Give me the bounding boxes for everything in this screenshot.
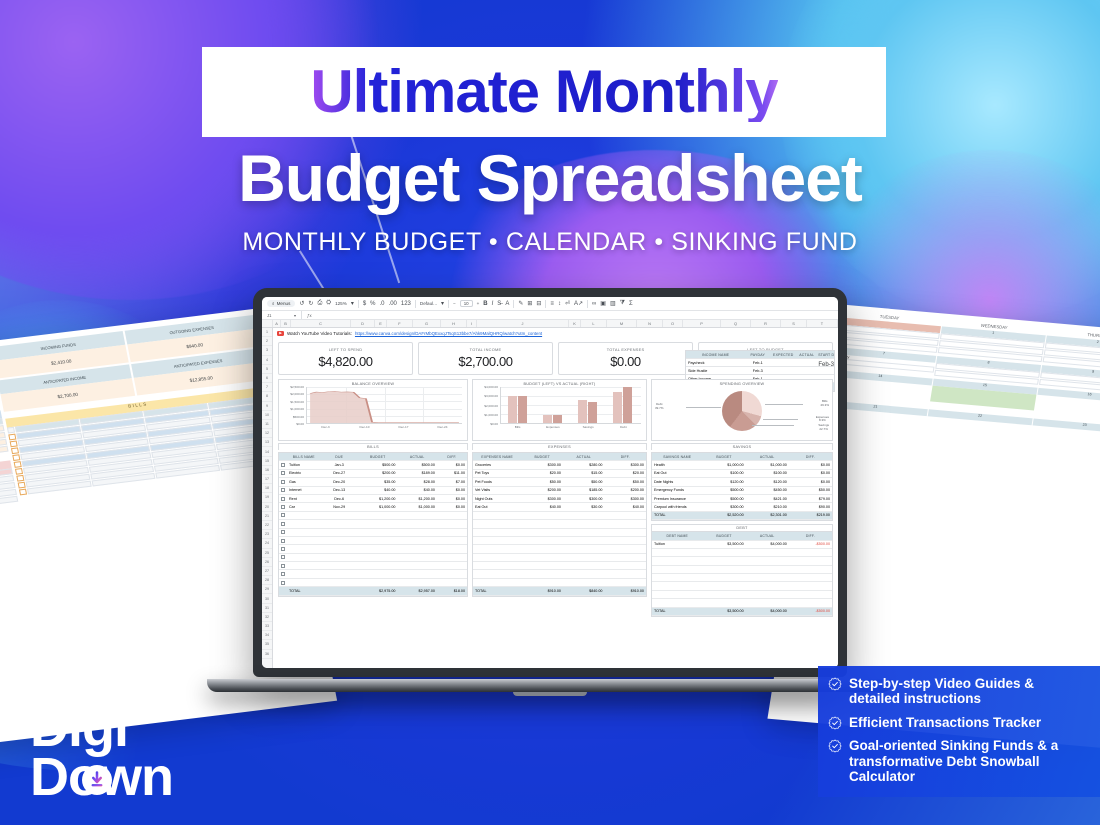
savings-total-budget: $2,520.00	[702, 513, 745, 517]
youtube-icon: ▶	[277, 331, 284, 336]
page-title-line1: Ultimate Monthly	[310, 62, 777, 122]
row-number-35[interactable]: 35	[262, 640, 272, 649]
laptop-screen: ⌕ Menus ↺ ↻ ⎙ ⛭ 125% ▾ $ % .0 .00 123	[262, 297, 838, 668]
bvsa-x-labels: Bills Expenses Savings Debt	[500, 425, 641, 432]
bills-row-internet[interactable]: Internet Dec-13 $40.00 $40.00 $0.00	[279, 487, 467, 495]
expenses-row-eat-out[interactable]: Eat Out $40.00 $30.00 $40.00	[473, 503, 646, 511]
savings-header-diff: DIFF.	[789, 455, 832, 459]
bills-checkbox-9[interactable]	[279, 539, 287, 543]
bills-diff-4: $0.00	[437, 497, 467, 501]
column-header-T[interactable]: T	[807, 320, 838, 327]
bills-empty-row-4[interactable]	[279, 537, 467, 545]
balance-ytick-4: $2,000.00	[290, 392, 304, 396]
column-header-B[interactable]: B	[281, 320, 291, 327]
debt-empty-row-4[interactable]	[652, 574, 832, 582]
expenses-row-groceries[interactable]: Groceries $300.00 $280.00 $300.00	[473, 461, 646, 469]
feature-item-0: Step-by-step Video Guides & detailed ins…	[828, 676, 1088, 707]
name-box[interactable]: J1	[267, 313, 289, 318]
expenses-actual-1: $15.00	[563, 471, 605, 475]
savings-row-eat-out[interactable]: Eat Out $100.00 $100.00 $0.00	[652, 470, 832, 478]
expenses-empty-row-5[interactable]	[473, 545, 646, 553]
bills-name-2: Gas	[287, 480, 320, 484]
savings-row-premium-insurance[interactable]: Premium Insurance $500.00 $421.00 $79.00	[652, 495, 832, 503]
income-row-side-hustle[interactable]: Side Hustle Feb-3	[686, 367, 834, 375]
bills-empty-row-9[interactable]	[279, 579, 467, 587]
text-color-icon[interactable]: A	[505, 301, 509, 307]
income-header-actual: ACTUAL	[796, 353, 817, 357]
bills-total-budget: $2,975.00	[358, 589, 397, 593]
column-header-F[interactable]: F	[387, 320, 413, 327]
font-size-input[interactable]: 10	[460, 300, 473, 307]
check-badge-icon	[828, 716, 842, 730]
debt-header-diff: DIFF.	[789, 534, 832, 538]
bills-checkbox-7[interactable]	[279, 522, 287, 526]
savings-name-2: Date Nights	[652, 480, 702, 484]
bills-actual-0: $500.00	[397, 463, 436, 467]
fill-color-icon[interactable]: ✎	[518, 300, 523, 307]
expenses-table: EXPENSES NAME BUDGET ACTUAL DIFF. Grocer…	[472, 452, 647, 597]
select-all-corner[interactable]	[262, 320, 273, 327]
chart-spending-overview[interactable]: SPENDING OVERVIEW Bills 29.3%	[651, 379, 833, 441]
percent-icon[interactable]: %	[370, 301, 375, 307]
debt-total-label: TOTAL	[652, 609, 702, 613]
insert-chart-icon[interactable]: ▥	[610, 300, 616, 307]
bills-checkbox-2[interactable]	[279, 480, 287, 484]
income-payday-0: Feb-1	[745, 361, 770, 365]
toolbar-divider-1	[358, 300, 359, 308]
row-number-24[interactable]: 24	[262, 539, 272, 548]
row-number-28[interactable]: 28	[262, 576, 272, 585]
expenses-diff-3: $200.00	[604, 488, 646, 492]
column-header-L[interactable]: L	[581, 320, 607, 327]
bills-checkbox-14[interactable]	[279, 581, 287, 585]
expenses-name-5: Eat Out	[473, 505, 521, 509]
expenses-diff-5: $40.00	[604, 505, 646, 509]
bills-empty-row-6[interactable]	[279, 554, 467, 562]
column-header-C[interactable]: C	[291, 320, 351, 327]
savings-name-5: Carpool with friends	[652, 505, 702, 509]
bills-checkbox-6[interactable]	[279, 513, 287, 517]
bills-budget-1: $200.00	[358, 471, 397, 475]
bills-actual-1: $189.00	[397, 471, 436, 475]
balance-xtick-1: Dec-10	[345, 425, 384, 432]
row-number-26[interactable]: 26	[262, 558, 272, 567]
bills-header-actual: ACTUAL	[397, 455, 436, 459]
insert-comment-icon[interactable]: ▣	[600, 300, 606, 307]
row-number-10[interactable]: 10	[262, 411, 272, 420]
debt-empty-row-6[interactable]	[652, 591, 832, 599]
row-number-3[interactable]: 3	[262, 346, 272, 355]
row-number-30[interactable]: 30	[262, 594, 272, 603]
balance-area-series	[307, 387, 462, 423]
debt-diff-0: -$500.00	[789, 542, 832, 546]
expenses-header-row: EXPENSES NAME BUDGET ACTUAL DIFF.	[473, 453, 646, 461]
expenses-budget-4: $300.00	[521, 497, 563, 501]
font-chevron-down-icon[interactable]: ▾	[441, 300, 444, 307]
text-rotation-icon[interactable]: A↗	[574, 300, 583, 307]
row-number-1[interactable]: 1	[262, 328, 272, 337]
income-header-name: INCOME NAME	[686, 353, 745, 357]
expenses-empty-row-3[interactable]	[473, 529, 646, 537]
savings-budget-3: $500.00	[702, 488, 745, 492]
bills-checkbox-3[interactable]	[279, 488, 287, 492]
bills-checkbox-4[interactable]	[279, 497, 287, 501]
merge-cells-icon[interactable]: ⊟	[536, 300, 541, 307]
bills-checkbox-0[interactable]	[279, 463, 287, 467]
row-number-14[interactable]: 14	[262, 447, 272, 456]
column-header-A[interactable]: A	[273, 320, 281, 327]
bvsa-category-expenses: Expenses	[535, 425, 570, 432]
debt-header-budget: BUDGET	[702, 534, 745, 538]
debt-empty-row-5[interactable]	[652, 582, 832, 590]
charts-row: BALANCE OVERVIEW $0.00 $500.00 $1,000.00…	[273, 377, 838, 443]
chart-title-balance-overview: BALANCE OVERVIEW	[282, 382, 464, 386]
savings-row-carpool[interactable]: Carpool with friends $300.00 $210.00 $90…	[652, 503, 832, 511]
page-subtitle: MONTHLY BUDGET • CALENDAR • SINKING FUND	[0, 228, 1100, 257]
savings-budget-1: $100.00	[702, 471, 745, 475]
chart-balance-overview[interactable]: BALANCE OVERVIEW $0.00 $500.00 $1,000.00…	[278, 379, 468, 441]
balance-ytick-5: $2,500.00	[290, 385, 304, 389]
bills-budget-2: $35.00	[358, 480, 397, 484]
savings-total-actual: $2,301.00	[746, 513, 789, 517]
column-header-O[interactable]: O	[663, 320, 683, 327]
savings-diff-2: $0.00	[789, 480, 832, 484]
formula-bar: J1 ▾ ƒx	[262, 311, 838, 320]
bar-bills-actual	[518, 396, 527, 423]
row-number-27[interactable]: 27	[262, 567, 272, 576]
expenses-diff-4: $300.00	[604, 497, 646, 501]
row-number-31[interactable]: 31	[262, 604, 272, 613]
debt-total-budget: $3,500.00	[702, 609, 745, 613]
pie-leader-bills	[765, 404, 803, 405]
pie-label-savings: Savings 22.7%	[818, 424, 829, 431]
column-header-P[interactable]: P	[683, 320, 721, 327]
expenses-empty-row-7[interactable]	[473, 562, 646, 570]
expenses-empty-row-8[interactable]	[473, 570, 646, 578]
currency-icon[interactable]: $	[363, 301, 366, 307]
row-number-11[interactable]: 11	[262, 420, 272, 429]
debt-empty-row-1[interactable]	[652, 549, 832, 557]
bar-bills-budget	[508, 396, 517, 423]
bills-checkbox-13[interactable]	[279, 572, 287, 576]
income-table-header-row: INCOME NAME PAYDAY EXPECTED ACTUAL START…	[686, 351, 834, 359]
row-number-18[interactable]: 18	[262, 484, 272, 493]
bills-empty-row-8[interactable]	[279, 570, 467, 578]
bills-diff-0: $0.00	[437, 463, 467, 467]
row-number-32[interactable]: 32	[262, 613, 272, 622]
expenses-row-vet-visits[interactable]: Vet Visits $200.00 $185.00 $200.00	[473, 487, 646, 495]
column-header-S[interactable]: S	[781, 320, 807, 327]
bar-expenses-actual	[553, 415, 562, 423]
toolbar-divider-6	[587, 300, 588, 308]
savings-row-emergency-funds[interactable]: Emergency Funds $500.00 $450.00 $50.00	[652, 487, 832, 495]
feature-text-0: Step-by-step Video Guides & detailed ins…	[849, 676, 1088, 707]
savings-actual-1: $100.00	[746, 471, 789, 475]
bar-expenses-budget	[543, 415, 552, 423]
savings-diff-1: $0.00	[789, 471, 832, 475]
row-number-13[interactable]: 13	[262, 438, 272, 447]
pie-label-bills: Bills 29.3%	[820, 400, 829, 407]
savings-header-actual: ACTUAL	[746, 455, 789, 459]
expenses-name-3: Vet Visits	[473, 488, 521, 492]
column-header-M[interactable]: M	[607, 320, 637, 327]
increase-decimal-icon[interactable]: .00	[389, 301, 397, 307]
savings-row-date-nights[interactable]: Date Nights $120.00 $120.00 $0.00	[652, 478, 832, 486]
pie-label-debt: Debt 39.7%	[655, 403, 664, 410]
expenses-name-1: Pet Toys	[473, 471, 521, 475]
bills-empty-row-5[interactable]	[279, 545, 467, 553]
bills-checkbox-8[interactable]	[279, 530, 287, 534]
italic-icon[interactable]: I	[492, 301, 494, 307]
youtube-tutorial-link[interactable]: https://www.canva.com/design/DAFrMbQExxq…	[355, 331, 542, 336]
bar-debt-actual	[623, 387, 632, 423]
strikethrough-icon[interactable]: S̶	[497, 301, 501, 307]
row-number-15[interactable]: 15	[262, 457, 272, 466]
expenses-empty-row-1[interactable]	[473, 512, 646, 520]
expenses-budget-0: $300.00	[521, 463, 563, 467]
bills-name-4: Rent	[287, 497, 320, 501]
income-name-1: Side Hustle	[686, 369, 745, 373]
bvsa-ytick-2: $2,000.00	[484, 404, 498, 408]
column-header-N[interactable]: N	[637, 320, 663, 327]
brand-name-line2-wrap: Down	[30, 753, 173, 803]
bills-empty-row-3[interactable]	[279, 529, 467, 537]
bills-row-tuition[interactable]: Tuition Jan-3 $500.00 $500.00 $0.00	[279, 461, 467, 469]
row-number-34[interactable]: 34	[262, 631, 272, 640]
savings-total-diff: $219.00	[789, 513, 832, 517]
row-number-21[interactable]: 21	[262, 512, 272, 521]
font-name-selector[interactable]: Defaul...	[420, 301, 437, 306]
functions-icon[interactable]: Σ	[629, 301, 633, 307]
debt-header-row: DEBT NAME BUDGET ACTUAL DIFF.	[652, 532, 832, 540]
row-number-25[interactable]: 25	[262, 549, 272, 558]
debt-table: DEBT NAME BUDGET ACTUAL DIFF. Tuition $3…	[651, 531, 833, 617]
bvsa-ytick-4: $4,000.00	[484, 385, 498, 389]
bvsa-plot-area	[500, 387, 641, 424]
bills-row-rent[interactable]: Rent Dec-6 $1,200.00 $1,200.00 $0.00	[279, 495, 467, 503]
column-header-G[interactable]: G	[413, 320, 441, 327]
row-number-36[interactable]: 36	[262, 650, 272, 659]
row-number-8[interactable]: 8	[262, 392, 272, 401]
column-header-R[interactable]: R	[751, 320, 781, 327]
expenses-empty-row-9[interactable]	[473, 579, 646, 587]
income-start-day-value: Feb-3	[818, 362, 834, 368]
budget-vs-actual-plot: $0.00 $1,000.00 $2,000.00 $3,000.00 $4,0…	[476, 387, 643, 433]
savings-actual-0: $1,000.00	[746, 463, 789, 467]
column-header-I[interactable]: I	[467, 320, 477, 327]
bills-checkbox-1[interactable]	[279, 471, 287, 475]
savings-row-health[interactable]: Health $1,000.00 $1,000.00 $0.00	[652, 461, 832, 469]
savings-budget-2: $120.00	[702, 480, 745, 484]
text-wrap-icon[interactable]: ⏎	[565, 300, 570, 307]
bills-empty-row-2[interactable]	[279, 520, 467, 528]
balance-ytick-3: $1,500.00	[290, 400, 304, 404]
row-number-4[interactable]: 4	[262, 356, 272, 365]
debt-empty-row-3[interactable]	[652, 566, 832, 574]
column-header-Q[interactable]: Q	[721, 320, 751, 327]
brand-name-line1: Digi	[30, 704, 173, 754]
bills-checkbox-5[interactable]	[279, 505, 287, 509]
row-number-5[interactable]: 5	[262, 365, 272, 374]
kpi-value-total-income: $2,700.00	[421, 354, 550, 369]
expenses-actual-0: $280.00	[563, 463, 605, 467]
row-number-7[interactable]: 7	[262, 383, 272, 392]
row-number-12[interactable]: 12	[262, 429, 272, 438]
row-number-23[interactable]: 23	[262, 530, 272, 539]
poster-canvas: MBER ESTIMATED FINAL BALANCE $5,315.00 I…	[0, 0, 1100, 825]
income-header-start-day: START DAY	[816, 353, 834, 357]
bills-due-2: Dec-20	[320, 480, 358, 484]
debt-empty-row-7[interactable]	[652, 599, 832, 607]
font-size-increase-button[interactable]: +	[477, 301, 480, 306]
expenses-row-night-outs[interactable]: Night Outs $300.00 $300.00 $300.00	[473, 495, 646, 503]
income-header-expected: EXPECTED	[770, 353, 795, 357]
row-number-19[interactable]: 19	[262, 493, 272, 502]
bills-header-name: BILLS NAME	[287, 455, 320, 459]
income-header-payday: PAYDAY	[745, 353, 770, 357]
filter-icon[interactable]: ⧩	[620, 300, 625, 307]
savings-budget-4: $500.00	[702, 497, 745, 501]
feature-item-1: Efficient Transactions Tracker	[828, 715, 1088, 731]
row-number-29[interactable]: 29	[262, 585, 272, 594]
bills-checkbox-10[interactable]	[279, 547, 287, 551]
borders-icon[interactable]: ⊞	[527, 300, 532, 307]
section-title-bills: BILLS	[278, 443, 468, 450]
bills-budget-3: $40.00	[358, 488, 397, 492]
toolbar-divider-3	[448, 300, 449, 308]
chevron-down-icon[interactable]: ▾	[351, 300, 354, 307]
toolbar-divider-2	[415, 300, 416, 308]
bills-row-electric[interactable]: Electric Dec-27 $200.00 $189.00 $11.00	[279, 470, 467, 478]
savings-header-name: SAVINGS NAME	[652, 455, 702, 459]
print-icon[interactable]: ⎙	[317, 300, 322, 307]
kpi-card-total-income: TOTAL INCOME $2,700.00	[418, 342, 553, 375]
savings-actual-3: $450.00	[746, 488, 789, 492]
expenses-row-pet-foods[interactable]: Pet Foods $50.00 $50.00 $50.00	[473, 478, 646, 486]
expenses-header-diff: DIFF.	[604, 455, 646, 459]
menus-button[interactable]: ⌕ Menus	[267, 300, 295, 307]
row-number-22[interactable]: 22	[262, 521, 272, 530]
name-box-chevron-icon[interactable]: ▾	[294, 313, 296, 318]
insert-link-icon[interactable]: ∞	[592, 301, 596, 307]
row-number-9[interactable]: 9	[262, 402, 272, 411]
income-row-paycheck[interactable]: Paycheck Feb-1	[686, 359, 834, 367]
row-number-2[interactable]: 2	[262, 337, 272, 346]
bills-header-row: BILLS NAME DUE BUDGET ACTUAL DIFF.	[279, 453, 467, 461]
savings-actual-4: $421.00	[746, 497, 789, 501]
calendar-date-23: 23	[1032, 418, 1100, 434]
expenses-header-name: EXPENSES NAME	[473, 455, 521, 459]
expenses-empty-row-2[interactable]	[473, 520, 646, 528]
bar-savings-actual	[588, 402, 597, 423]
debt-total-row: TOTAL $3,500.00 $4,000.00 -$500.00	[652, 608, 832, 616]
bills-header-budget: BUDGET	[358, 455, 397, 459]
balance-xtick-2: Dec-17	[384, 425, 423, 432]
toolbar-divider-5	[545, 300, 546, 308]
expenses-actual-3: $185.00	[563, 488, 605, 492]
vertical-align-icon[interactable]: ↕	[558, 301, 561, 307]
expenses-actual-4: $300.00	[563, 497, 605, 501]
bills-row-gas[interactable]: Gas Dec-20 $35.00 $28.00 $7.00	[279, 478, 467, 486]
expenses-row-pet-toys[interactable]: Pet Toys $20.00 $15.00 $20.00	[473, 470, 646, 478]
bills-empty-row-1[interactable]	[279, 512, 467, 520]
savings-total-label: TOTAL	[652, 513, 702, 517]
check-badge-icon	[828, 677, 842, 691]
debt-header-actual: ACTUAL	[746, 534, 789, 538]
chart-budget-vs-actual[interactable]: BUDGET (LEFT) VS ACTUAL (RIGHT) $0.00 $1…	[472, 379, 647, 441]
savings-diff-5: $90.00	[789, 505, 832, 509]
column-header-D[interactable]: D	[351, 320, 375, 327]
row-number-16[interactable]: 16	[262, 466, 272, 475]
redo-icon[interactable]: ↻	[308, 300, 313, 307]
bvsa-ytick-0: $0.00	[490, 422, 498, 426]
font-size-decrease-button[interactable]: −	[453, 301, 456, 306]
column-headers: A B C D E F G H I J K L M N O P Q	[262, 320, 838, 328]
column-header-E[interactable]: E	[375, 320, 387, 327]
kpi-label-total-income: TOTAL INCOME	[421, 347, 550, 352]
balance-x-labels: Dec-3 Dec-10 Dec-17 Dec-24	[306, 425, 462, 432]
zoom-level[interactable]: 125%	[335, 301, 347, 306]
row-number-6[interactable]: 6	[262, 374, 272, 383]
undo-icon[interactable]: ↺	[299, 300, 304, 307]
bills-total-label: TOTAL	[287, 589, 320, 593]
more-formats-123-icon[interactable]: 123	[401, 301, 411, 307]
debt-empty-row-2[interactable]	[652, 557, 832, 565]
bills-total-diff: $18.00	[437, 589, 467, 593]
row-number-20[interactable]: 20	[262, 503, 272, 512]
row-number-17[interactable]: 17	[262, 475, 272, 484]
bills-budget-5: $1,000.00	[358, 505, 397, 509]
bills-due-3: Dec-13	[320, 488, 358, 492]
feature-text-1: Efficient Transactions Tracker	[849, 715, 1041, 731]
row-number-33[interactable]: 33	[262, 622, 272, 631]
spending-pie-wrap: Bills 29.3% Expenses 8.3%	[655, 387, 829, 435]
laptop-mockup: ⌕ Menus ↺ ↻ ⎙ ⛭ 125% ▾ $ % .0 .00 123	[253, 288, 847, 696]
bills-checkbox-11[interactable]	[279, 555, 287, 559]
bills-empty-row-7[interactable]	[279, 562, 467, 570]
bills-total-row: TOTAL $2,975.00 $2,957.00 $18.00	[279, 587, 467, 595]
section-titles-row: BILLS EXPENSES SAVINGS	[273, 443, 838, 450]
balance-ytick-1: $500.00	[293, 415, 304, 419]
expenses-name-2: Pet Foods	[473, 480, 521, 484]
column-header-H[interactable]: H	[441, 320, 467, 327]
column-header-K[interactable]: K	[569, 320, 581, 327]
expenses-budget-1: $20.00	[521, 471, 563, 475]
bills-due-4: Dec-6	[320, 497, 358, 501]
expenses-empty-row-6[interactable]	[473, 554, 646, 562]
paint-format-icon[interactable]: ⛭	[326, 300, 331, 307]
check-badge-icon	[828, 739, 842, 753]
debt-section: DEBT DEBT NAME BUDGET ACTUAL DIFF.	[651, 524, 833, 617]
horizontal-align-icon[interactable]: ≡	[550, 301, 554, 307]
expenses-total-row: TOTAL $910.00 $840.00 $910.00	[473, 587, 646, 595]
expenses-empty-row-4[interactable]	[473, 537, 646, 545]
bold-icon[interactable]: B	[483, 301, 487, 307]
debt-row-tuition[interactable]: Tuition $3,500.00 $4,000.00 -$500.00	[652, 541, 832, 549]
column-header-J[interactable]: J	[477, 320, 569, 327]
decrease-decimal-icon[interactable]: .0	[380, 301, 385, 307]
bills-checkbox-12[interactable]	[279, 564, 287, 568]
debt-actual-0: $4,000.00	[746, 542, 789, 546]
pie-leader-savings	[752, 425, 794, 426]
bills-due-1: Dec-27	[320, 471, 358, 475]
headline-band: Ultimate Monthly	[202, 47, 886, 137]
income-payday-1: Feb-3	[745, 369, 770, 373]
bvsa-category-bills: Bills	[500, 425, 535, 432]
bills-due-5: Nov-29	[320, 505, 358, 509]
savings-budget-0: $1,000.00	[702, 463, 745, 467]
bills-row-car[interactable]: Car Nov-29 $1,000.00 $1,000.00 $0.00	[279, 503, 467, 511]
